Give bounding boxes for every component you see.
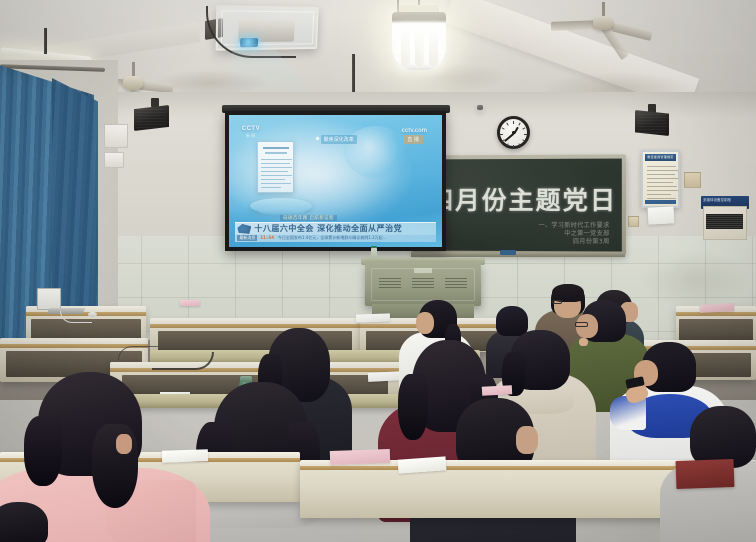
laptop-screen[interactable] [37,288,61,310]
blackboard-headline: 四月份主题党日 [426,181,620,217]
doc-line [261,187,281,188]
lamp-tube [429,28,438,66]
broadcast-ticker: 最新消息 11:54 今日全国发布1.4亿元，全球累计新增群众确诊病例1.2万起… [235,234,435,242]
teacher-podium[interactable] [365,262,481,306]
student-ear [579,338,588,346]
doc-line [261,183,291,184]
notice-board-footer [645,200,676,204]
blackboard-subtext: 一、学习新时代工作要求 中之第一党支部 四月份第3周 [539,222,610,246]
notice-text-line [647,190,678,191]
posted-paper-sheet [648,206,675,224]
broadcast-document-graphic [257,141,294,193]
eyeglasses [552,300,562,304]
clock-tick [506,122,508,125]
ticker-time: 11:54 [260,236,274,241]
pink-paper-mid[interactable] [482,385,512,396]
clock-tick [502,127,505,129]
student-hair-side [24,416,62,486]
ticker-label: 最新消息 [237,235,257,241]
speaker-right [635,110,669,136]
thermos-cap [240,376,252,382]
notice-board-header-text: 教室使用管理规定 [645,154,676,161]
doc-subheader-bar [265,152,287,154]
podium-label-plate [414,268,432,273]
cctv-logo-left: CCTV [242,126,260,132]
blackboard-surface: 四月份主题党日 一、学习新时代工作要求 中之第一党支部 四月份第3周 [416,159,622,252]
clock-tick [518,122,520,125]
student-hair-side [398,374,428,440]
student-head [416,312,434,334]
notice-board: 教室使用管理规定 [641,150,680,208]
chalk-tray [411,252,625,257]
classroom-photo: 教室使用管理规定 多媒体设备控制柜 请勿擅自操作 [0,0,756,542]
notice-text-line [647,198,676,199]
pink-note[interactable] [180,300,200,306]
notice-text-line [647,186,677,187]
student-ponytail [92,424,138,508]
cctv-dot-com-watermark: cctv.com [402,128,428,134]
lamp-body [392,12,446,70]
speaker-small-center [477,105,483,110]
speaker-left [134,105,169,131]
doc-line [261,175,292,176]
clock-tick [522,127,525,129]
computer-mouse[interactable] [88,312,97,317]
doc-line [261,179,285,180]
broadcast-topic-tag: 聚焦深化改革 [321,135,357,144]
light-drop-rod [44,28,47,54]
wall-outlet-box-small [628,216,639,227]
red-book[interactable] [676,459,735,489]
clock-tick [522,139,525,141]
student-head [516,426,538,454]
podium-vent [412,276,434,288]
clock-minute-hand [504,133,514,142]
doc-line [261,163,290,164]
notice-text-line [647,174,675,175]
wall-switch-panel [104,152,124,168]
speaker-grille [638,113,666,133]
fan-hub [593,16,613,30]
projected-broadcast-image: CCTV 新闻 cctv.com 聚焦深化改革 直 播 砥砺百年路 启航新征程 … [229,115,442,247]
ceiling-fan-right [560,2,646,40]
speaker-grille [137,108,166,128]
notice-text-line [647,194,671,195]
broadcast-kicker: 砥砺百年路 启航新征程 [280,215,337,221]
floor-cable-2 [118,346,158,360]
lamp-tube [401,28,410,66]
notice-text-line [647,178,678,179]
blackboard-clip [500,250,516,255]
eyeglasses [575,322,588,327]
doc-line [261,167,292,168]
podium-vent [379,276,401,288]
clock-center-pin [512,131,515,134]
notice-text-line [647,166,676,167]
student-hair [496,306,528,336]
broadcast-emblem-icon [237,224,251,234]
notice-board-header: 教室使用管理规定 [645,154,676,161]
wall-smudge [640,250,750,310]
student-ear [116,434,132,454]
clock-tick [500,134,503,135]
clock-tick [513,145,514,148]
wall-junction-box-left [104,124,128,148]
clock-tick [524,134,527,135]
paper-on-front-desk[interactable] [162,449,208,463]
broadcast-headline-text: 十八届六中全会 深化推动全面从严治党 [254,223,402,234]
fan-hub [123,76,143,90]
notice-text-line [647,182,673,183]
ticker-text: 今日全国发布1.4亿元，全球累计新增群众确诊病例1.2万起… [278,235,387,241]
desk-shelf [679,319,753,342]
desk-edge [676,312,756,316]
podium-vent [445,276,467,288]
broadcast-live-badge: 直 播 [403,135,423,144]
doc-line [261,159,292,160]
pink-paper-front-desk[interactable] [330,449,390,465]
paper-sheet[interactable] [356,313,390,322]
clock-tick [506,143,508,146]
wall-clock [497,116,530,149]
notice-text-line [647,170,678,171]
doc-header-bar [263,147,289,149]
clock-tick [518,143,520,146]
broadcast-headline-banner: 十八届六中全会 深化推动全面从严治党 [235,222,435,235]
broadcast-globe-graphic [344,126,408,178]
wall-outlet-box [684,172,701,188]
desk-edge [150,324,360,328]
cctv-logo-left-sub: 新闻 [246,133,256,139]
equipment-sign-line1: 多媒体设备控制柜 [701,196,749,204]
student-hair [0,502,48,542]
speaker-bracket [151,98,159,107]
clock-tick [513,121,514,124]
floor-cable [152,352,214,370]
equipment-grille [706,214,743,229]
desk-row-3-left [150,318,360,352]
projection-screen: CCTV 新闻 cctv.com 聚焦深化改革 直 播 砥砺百年路 启航新征程 … [225,111,446,251]
doc-line [261,171,288,172]
lamp-tube [415,28,424,66]
